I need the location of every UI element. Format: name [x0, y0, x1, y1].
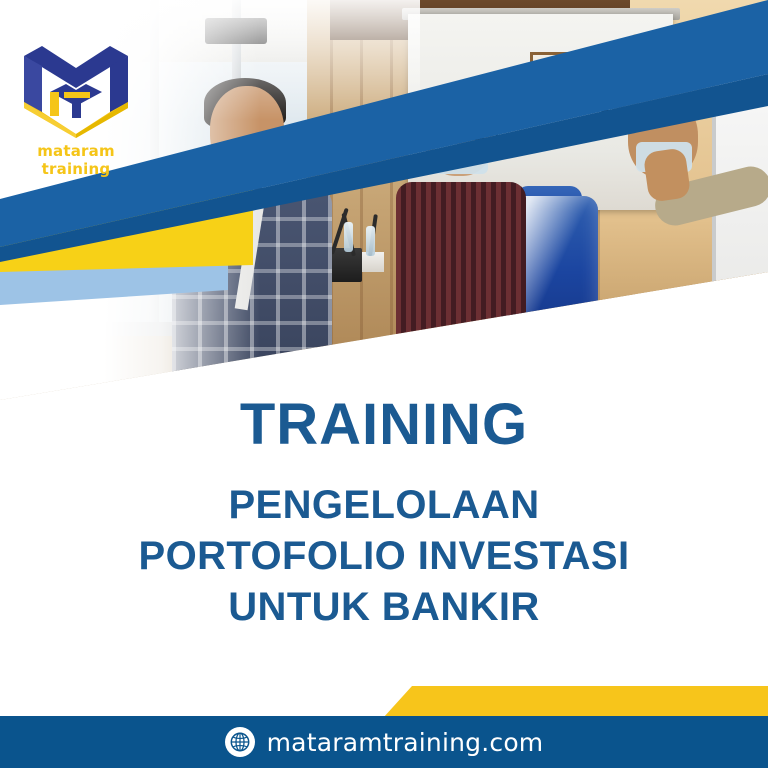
brand-logo: mataram training: [14, 42, 138, 172]
wall-emblem: [632, 34, 658, 68]
globe-icon: [225, 727, 255, 757]
water-bottle: [344, 222, 353, 252]
water-bottle: [366, 226, 375, 256]
footer-bar: mataramtraining.com: [0, 716, 768, 768]
eyeglasses: [424, 124, 498, 140]
face-mask: [434, 144, 488, 174]
title-line-1: PENGELOLAAN: [0, 480, 768, 531]
footer-yellow-shape: [383, 686, 768, 718]
torso: [396, 182, 526, 400]
title-block: TRAINING PENGELOLAAN PORTOFOLIO INVESTAS…: [0, 396, 768, 634]
title-subtitle: PENGELOLAAN PORTOFOLIO INVESTASI UNTUK B…: [0, 480, 768, 634]
hand: [643, 147, 692, 202]
website-link[interactable]: mataramtraining.com: [225, 727, 544, 757]
website-url: mataramtraining.com: [267, 728, 544, 757]
title-line-3: UNTUK BANKIR: [0, 582, 768, 633]
baseball-cap: [612, 78, 710, 118]
footer-yellow-accent: [0, 686, 768, 718]
brand-wordmark: mataram training: [14, 142, 138, 178]
wall-picture-frame: [530, 52, 592, 104]
title-main: TRAINING: [0, 396, 768, 454]
title-line-2: PORTOFOLIO INVESTASI: [0, 531, 768, 582]
mataram-m-chevron-logo: [20, 42, 132, 138]
promo-poster: mataram training TRAINING PENGELOLAAN PO…: [0, 0, 768, 768]
